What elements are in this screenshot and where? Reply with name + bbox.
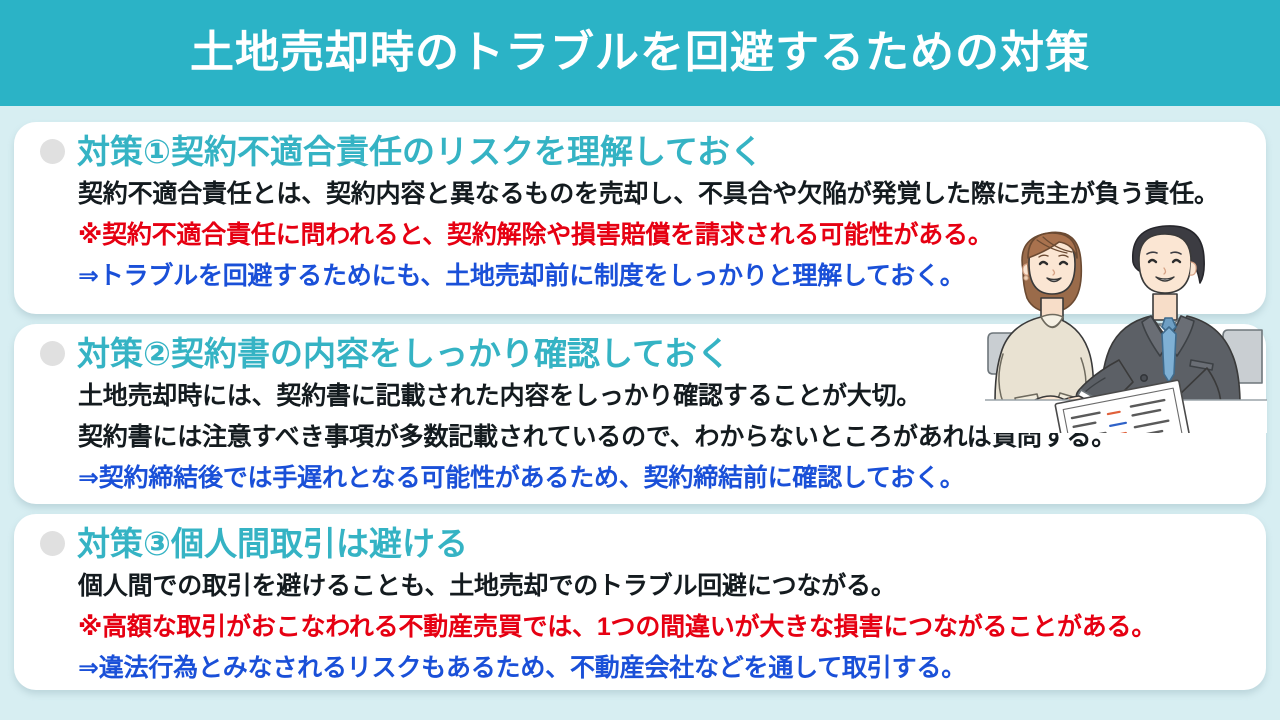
page-title: 土地売却時のトラブルを回避するための対策: [190, 31, 1090, 75]
card-2-line-1: 土地売却時には、契約書に記載された内容をしっかり確認することが大切。: [78, 376, 1266, 417]
card-3-line-2: ※高額な取引がおこなわれる不動産売買では、1つの間違いが大きな損害につながること…: [78, 607, 1266, 648]
card-1-heading: 対策①契約不適合責任のリスクを理解しておく: [14, 122, 1266, 168]
bullet-dot-icon: [40, 531, 65, 556]
measure-card-3: 対策③個人間取引は避ける 個人間での取引を避けることも、土地売却でのトラブル回避…: [14, 514, 1266, 690]
bullet-dot-icon: [40, 139, 65, 164]
card-3-heading-text: 対策③個人間取引は避ける: [77, 527, 468, 560]
card-3-line-1: 個人間での取引を避けることも、土地売却でのトラブル回避につながる。: [78, 566, 1266, 607]
card-1-line-3: ⇒トラブルを回避するためにも、土地売却前に制度をしっかりと理解しておく。: [78, 256, 1266, 297]
card-3-heading: 対策③個人間取引は避ける: [14, 514, 1266, 560]
card-2-line-2: 契約書には注意すべき事項が多数記載されているので、わからないところがあれば質問す…: [78, 417, 1266, 458]
card-1-line-1: 契約不適合責任とは、契約内容と異なるものを売却し、不具合や欠陥が発覚した際に売主…: [78, 174, 1266, 215]
bullet-dot-icon: [40, 341, 65, 366]
card-1-heading-text: 対策①契約不適合責任のリスクを理解しておく: [77, 135, 763, 168]
card-1-line-2: ※契約不適合責任に問われると、契約解除や損害賠償を請求される可能性がある。: [78, 215, 1266, 256]
card-2-heading: 対策②契約書の内容をしっかり確認しておく: [14, 324, 1266, 370]
card-2-heading-text: 対策②契約書の内容をしっかり確認しておく: [77, 337, 730, 370]
card-1-body: 契約不適合責任とは、契約内容と異なるものを売却し、不具合や欠陥が発覚した際に売主…: [14, 168, 1266, 297]
measure-card-2: 対策②契約書の内容をしっかり確認しておく 土地売却時には、契約書に記載された内容…: [14, 324, 1266, 504]
infographic-page: 土地売却時のトラブルを回避するための対策 対策①契約不適合責任のリスクを理解して…: [0, 0, 1280, 720]
card-2-line-3: ⇒契約締結後では手遅れとなる可能性があるため、契約締結前に確認しておく。: [78, 458, 1266, 499]
card-3-body: 個人間での取引を避けることも、土地売却でのトラブル回避につながる。 ※高額な取引…: [14, 560, 1266, 689]
measure-card-1: 対策①契約不適合責任のリスクを理解しておく 契約不適合責任とは、契約内容と異なる…: [14, 122, 1266, 314]
card-2-body: 土地売却時には、契約書に記載された内容をしっかり確認することが大切。 契約書には…: [14, 370, 1266, 499]
card-3-line-3: ⇒違法行為とみなされるリスクもあるため、不動産会社などを通して取引する。: [78, 648, 1266, 689]
header-bar: 土地売却時のトラブルを回避するための対策: [0, 0, 1280, 106]
